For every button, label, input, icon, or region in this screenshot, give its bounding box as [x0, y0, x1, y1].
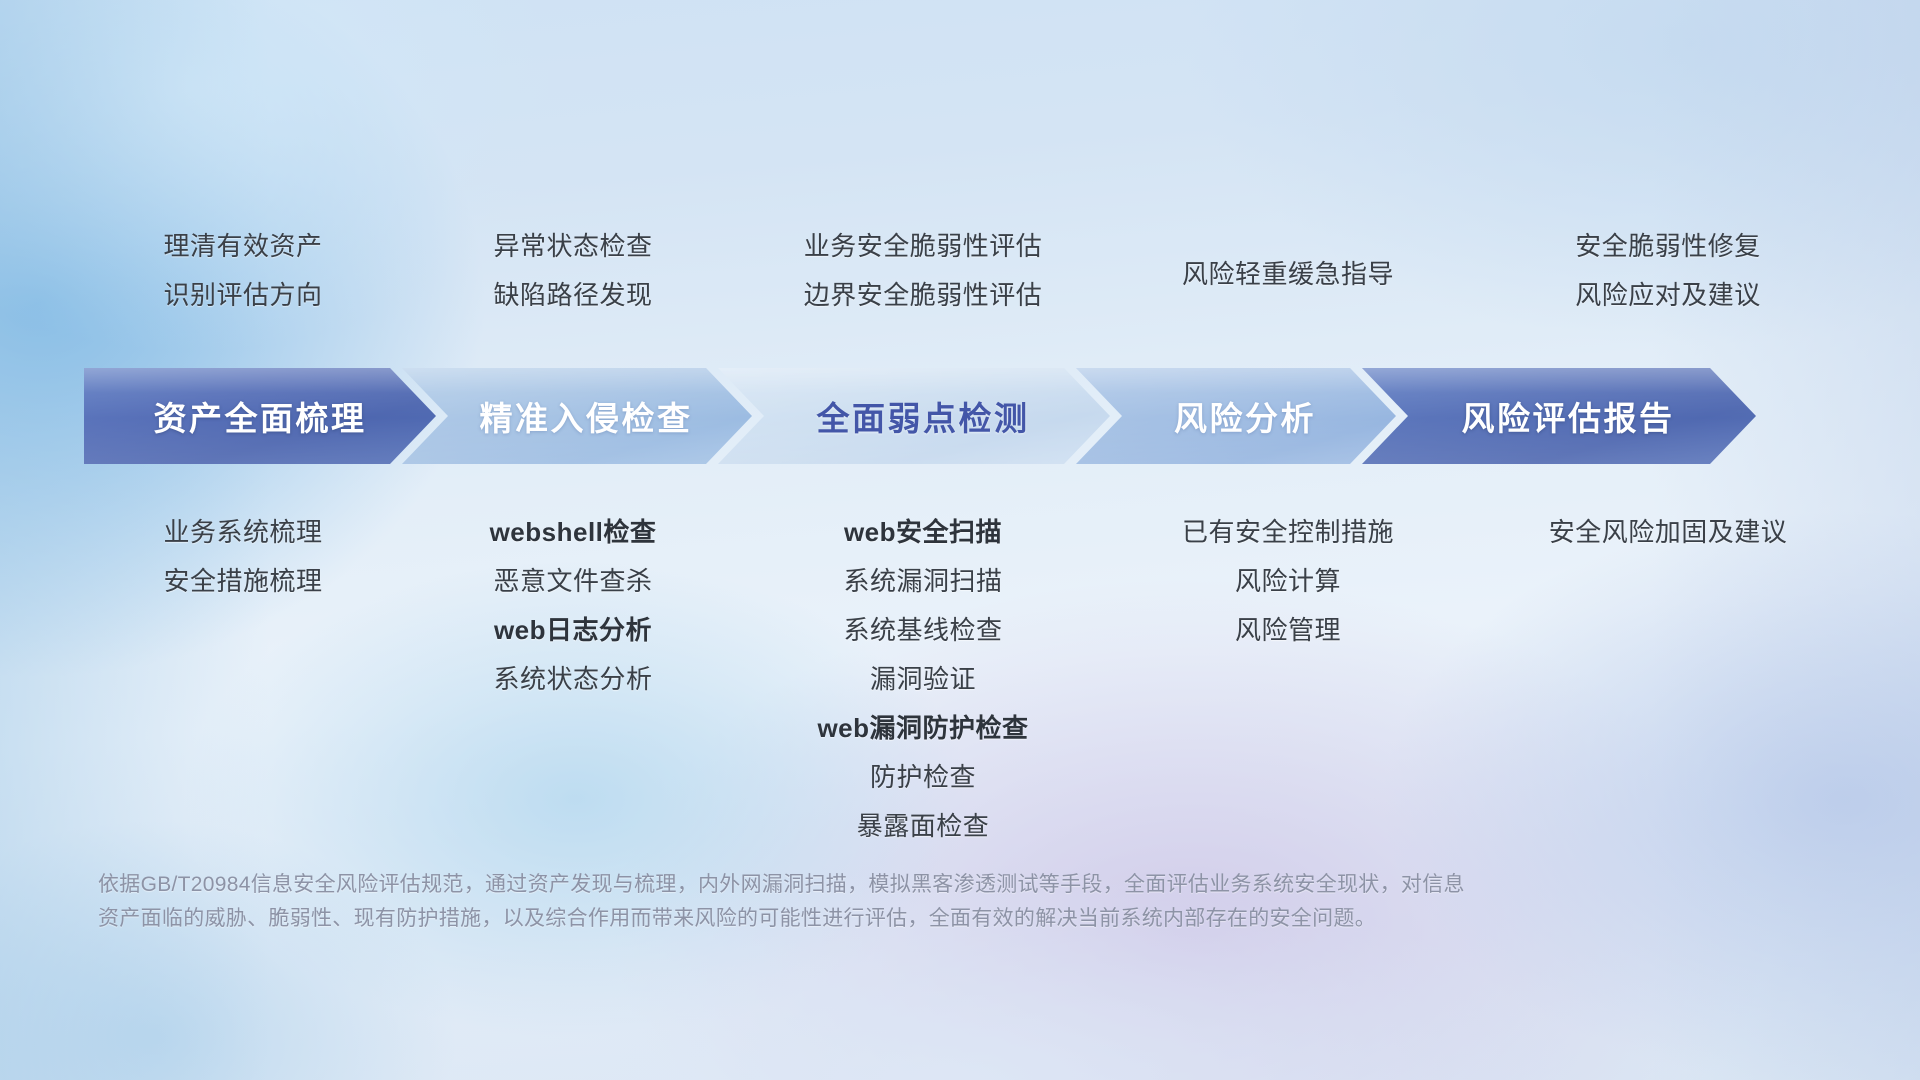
stage-title: 风险评估报告: [1444, 392, 1675, 440]
top-item: 风险轻重缓急指导: [1108, 250, 1468, 299]
footer-line-2: 资产面临的威胁、脆弱性、现有防护措施，以及综合作用而带来风险的可能性进行评估，全…: [98, 902, 1658, 936]
bottom-column-5: 安全风险加固及建议: [1468, 508, 1868, 557]
top-item: 安全脆弱性修复: [1468, 222, 1868, 271]
bottom-item: 已有安全控制措施: [1108, 508, 1468, 557]
stage-chevron-5[interactable]: 风险评估报告: [1362, 368, 1756, 464]
bottom-item: web日志分析: [408, 606, 738, 655]
bottom-item: 防护检查: [738, 753, 1108, 802]
bottom-item: 漏洞验证: [738, 655, 1108, 704]
bottom-item: 暴露面检查: [738, 802, 1108, 851]
bottom-item: 系统基线检查: [738, 606, 1108, 655]
process-chevron-band: 资产全面梳理 精准入侵检查 全面弱点检测 风险分析 风险评估报告: [84, 368, 1854, 464]
top-column-3: 业务安全脆弱性评估 边界安全脆弱性评估: [738, 222, 1108, 320]
top-item: 异常状态检查: [408, 222, 738, 271]
bottom-item: 系统状态分析: [408, 655, 738, 704]
top-column-2: 异常状态检查 缺陷路径发现: [408, 222, 738, 320]
bottom-item: 风险管理: [1108, 606, 1468, 655]
stage-title: 风险分析: [1156, 392, 1316, 440]
slide-canvas: 理清有效资产 识别评估方向 异常状态检查 缺陷路径发现 业务安全脆弱性评估 边界…: [0, 0, 1920, 1080]
top-items-inner: 理清有效资产 识别评估方向 异常状态检查 缺陷路径发现 业务安全脆弱性评估 边界…: [78, 222, 1868, 320]
footer-description: 依据GB/T20984信息安全风险评估规范，通过资产发现与梳理，内外网漏洞扫描，…: [98, 868, 1658, 936]
stage-title: 精准入侵检查: [462, 392, 693, 440]
bottom-item: 风险计算: [1108, 557, 1468, 606]
top-column-4: 风险轻重缓急指导: [1108, 222, 1468, 320]
bottom-item: webshell检查: [408, 508, 738, 557]
top-items-row: 理清有效资产 识别评估方向 异常状态检查 缺陷路径发现 业务安全脆弱性评估 边界…: [0, 222, 1920, 320]
stage-chevron-4[interactable]: 风险分析: [1076, 368, 1396, 464]
stage-chevron-1[interactable]: 资产全面梳理: [84, 368, 436, 464]
bottom-column-4: 已有安全控制措施 风险计算 风险管理: [1108, 508, 1468, 655]
stage-chevron-2[interactable]: 精准入侵检查: [402, 368, 752, 464]
stage-title: 资产全面梳理: [154, 392, 367, 440]
top-column-5: 安全脆弱性修复 风险应对及建议: [1468, 222, 1868, 320]
bottom-item: 业务系统梳理: [78, 508, 408, 557]
bottom-item: 恶意文件查杀: [408, 557, 738, 606]
bottom-items-row: 业务系统梳理 安全措施梳理 webshell检查 恶意文件查杀 web日志分析 …: [0, 508, 1920, 851]
bottom-items-inner: 业务系统梳理 安全措施梳理 webshell检查 恶意文件查杀 web日志分析 …: [78, 508, 1868, 851]
bottom-item: 系统漏洞扫描: [738, 557, 1108, 606]
bottom-column-2: webshell检查 恶意文件查杀 web日志分析 系统状态分析: [408, 508, 738, 704]
bottom-item: web安全扫描: [738, 508, 1108, 557]
footer-line-1: 依据GB/T20984信息安全风险评估规范，通过资产发现与梳理，内外网漏洞扫描，…: [98, 868, 1658, 902]
stage-title: 全面弱点检测: [799, 392, 1030, 440]
bottom-item: 安全风险加固及建议: [1468, 508, 1868, 557]
bottom-column-3: web安全扫描 系统漏洞扫描 系统基线检查 漏洞验证 web漏洞防护检查 防护检…: [738, 508, 1108, 851]
top-item: 缺陷路径发现: [408, 271, 738, 320]
bottom-column-1: 业务系统梳理 安全措施梳理: [78, 508, 408, 606]
top-item: 识别评估方向: [78, 271, 408, 320]
stage-chevron-3[interactable]: 全面弱点检测: [718, 368, 1110, 464]
top-item: 业务安全脆弱性评估: [738, 222, 1108, 271]
top-item: 边界安全脆弱性评估: [738, 271, 1108, 320]
bottom-item: 安全措施梳理: [78, 557, 408, 606]
top-item: 理清有效资产: [78, 222, 408, 271]
top-column-1: 理清有效资产 识别评估方向: [78, 222, 408, 320]
bottom-item: web漏洞防护检查: [738, 704, 1108, 753]
top-item: 风险应对及建议: [1468, 271, 1868, 320]
